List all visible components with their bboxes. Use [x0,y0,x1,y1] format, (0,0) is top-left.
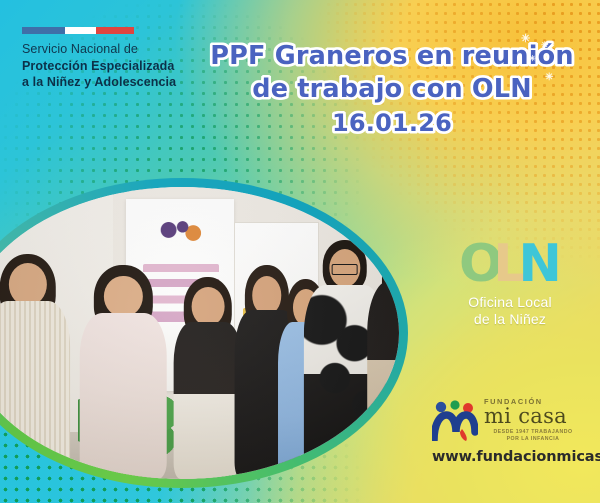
glasses-icon [394,261,399,272]
headline-title: PPF Graneros en reunión de trabajo con O… [196,40,588,139]
micasa-tagline-line-1: DESDE 1947 TRABAJANDO [484,429,582,436]
photo-scene [0,187,399,479]
poster-canvas: Servicio Nacional de Protección Especial… [0,0,600,503]
logo-line-1: Servicio Nacional de [22,41,197,58]
glasses-icon [331,264,358,276]
person-1 [0,251,73,479]
flag-segment-white [65,27,96,34]
logo-line-2: Protección Especializada [22,58,197,75]
micasa-logo-row: FUNDACIÓN mi casa DESDE 1947 TRABAJANDO … [432,398,582,443]
group-photo-image [0,187,399,479]
oln-subtitle-line-1: Oficina Local [446,294,574,311]
chile-flag-bar-icon [22,27,134,34]
headline-line-2: de trabajo con OLN [252,74,532,104]
person-head [192,287,225,326]
oln-subtitle-line-2: de la Niñez [446,311,574,328]
person-body [367,281,399,479]
person-body [0,301,70,479]
fundacion-mi-casa-logo: FUNDACIÓN mi casa DESDE 1947 TRABAJANDO … [432,398,582,465]
headline-line-1: PPF Graneros en reunión [210,41,574,71]
person-7 [364,228,399,479]
micasa-tagline-line-2: POR LA INFANCIA [484,436,582,443]
micasa-wordmark: FUNDACIÓN mi casa DESDE 1947 TRABAJANDO … [484,398,582,443]
oln-letter-n: N [518,238,561,290]
person-head [104,276,142,317]
oln-logo: O L N Oficina Local de la Niñez [446,238,574,327]
micasa-name: mi casa [484,406,582,427]
group-photo-frame [0,178,408,488]
person-body [80,313,167,479]
headline-date: 16.01.26 [196,108,588,139]
oln-letters: O L N [446,238,574,290]
person-2 [78,263,169,479]
oln-subtitle: Oficina Local de la Niñez [446,294,574,327]
banner-logo-icon [152,216,208,247]
flag-segment-red [96,27,134,34]
servicio-nacional-logo: Servicio Nacional de Protección Especial… [22,27,197,91]
logo-line-3: a la Niñez y Adolescencia [22,74,197,91]
website-url[interactable]: www.fundacionmicasa.cl [432,449,582,465]
flag-segment-blue [22,27,65,34]
mi-casa-mark-icon [432,399,478,441]
